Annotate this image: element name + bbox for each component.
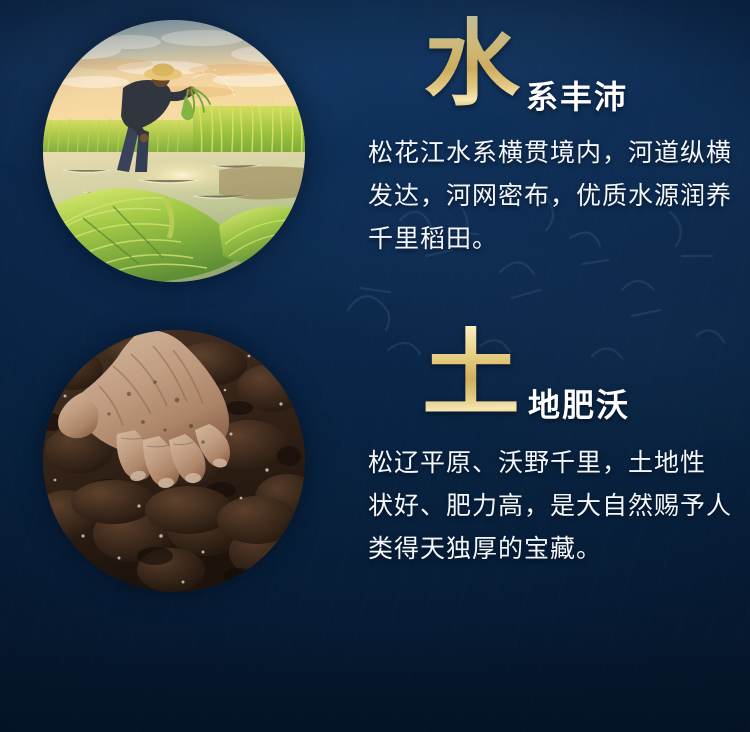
promo-banner: 水 系丰沛 松花江水系横贯境内，河道纵横 发达，河网密布，优质水源润养 千里稻田… [0,0,750,732]
background-vignette [0,0,750,732]
